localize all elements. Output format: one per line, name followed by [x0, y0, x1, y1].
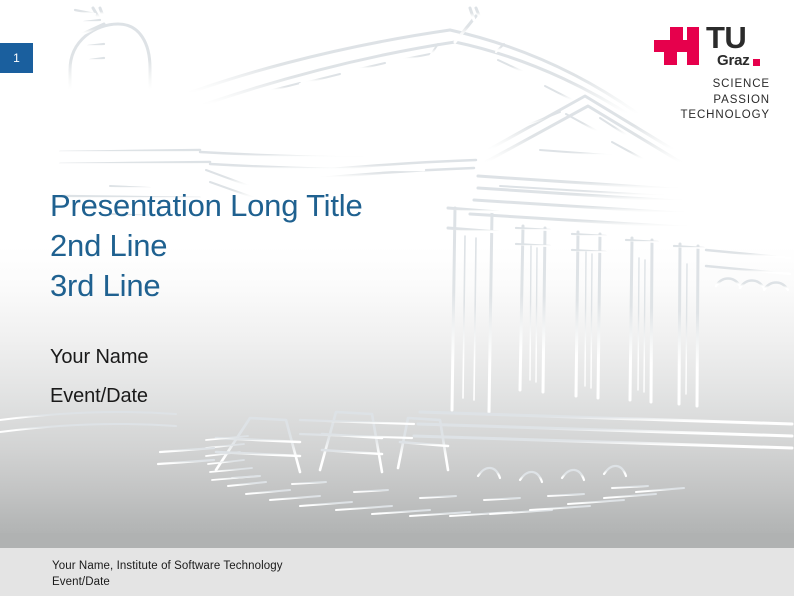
slide-title: Presentation Long Title 2nd Line 3rd Lin… — [50, 186, 650, 306]
tu-graz-cross-mark-icon — [654, 27, 708, 65]
logo-lockup: TU Graz — [652, 24, 772, 70]
slide-number-value: 1 — [13, 51, 20, 65]
tu-graz-logo: TU Graz SCIENCE PASSION TECHNOLOGY — [652, 24, 772, 124]
logo-graz-text: Graz — [717, 53, 750, 68]
footer-text: Your Name, Institute of Software Technol… — [52, 558, 283, 590]
title-line-1: Presentation Long Title — [50, 186, 650, 226]
logo-tu-text: TU — [706, 24, 772, 52]
subtitle-author: Your Name — [50, 338, 570, 377]
logo-graz-row: Graz — [706, 53, 772, 68]
subtitle-event-date: Event/Date — [50, 377, 570, 416]
footer-line-1: Your Name, Institute of Software Technol… — [52, 558, 283, 574]
logo-square-accent-icon — [753, 59, 760, 66]
logo-tagline-line-3: TECHNOLOGY — [652, 108, 770, 124]
title-line-3: 3rd Line — [50, 266, 650, 306]
slide-number-badge: 1 — [0, 43, 33, 73]
footer-divider-band — [0, 533, 794, 548]
logo-tagline-line-1: SCIENCE — [652, 77, 770, 93]
slide-footer: Your Name, Institute of Software Technol… — [0, 548, 794, 596]
footer-line-2: Event/Date — [52, 574, 283, 590]
presentation-slide: 1 TU Graz — [0, 0, 794, 596]
slide-subtitle: Your Name Event/Date — [50, 338, 570, 416]
logo-wordmark: TU Graz — [706, 24, 772, 68]
logo-tagline-line-2: PASSION — [652, 93, 770, 109]
logo-tagline: SCIENCE PASSION TECHNOLOGY — [652, 77, 772, 124]
title-line-2: 2nd Line — [50, 226, 650, 266]
